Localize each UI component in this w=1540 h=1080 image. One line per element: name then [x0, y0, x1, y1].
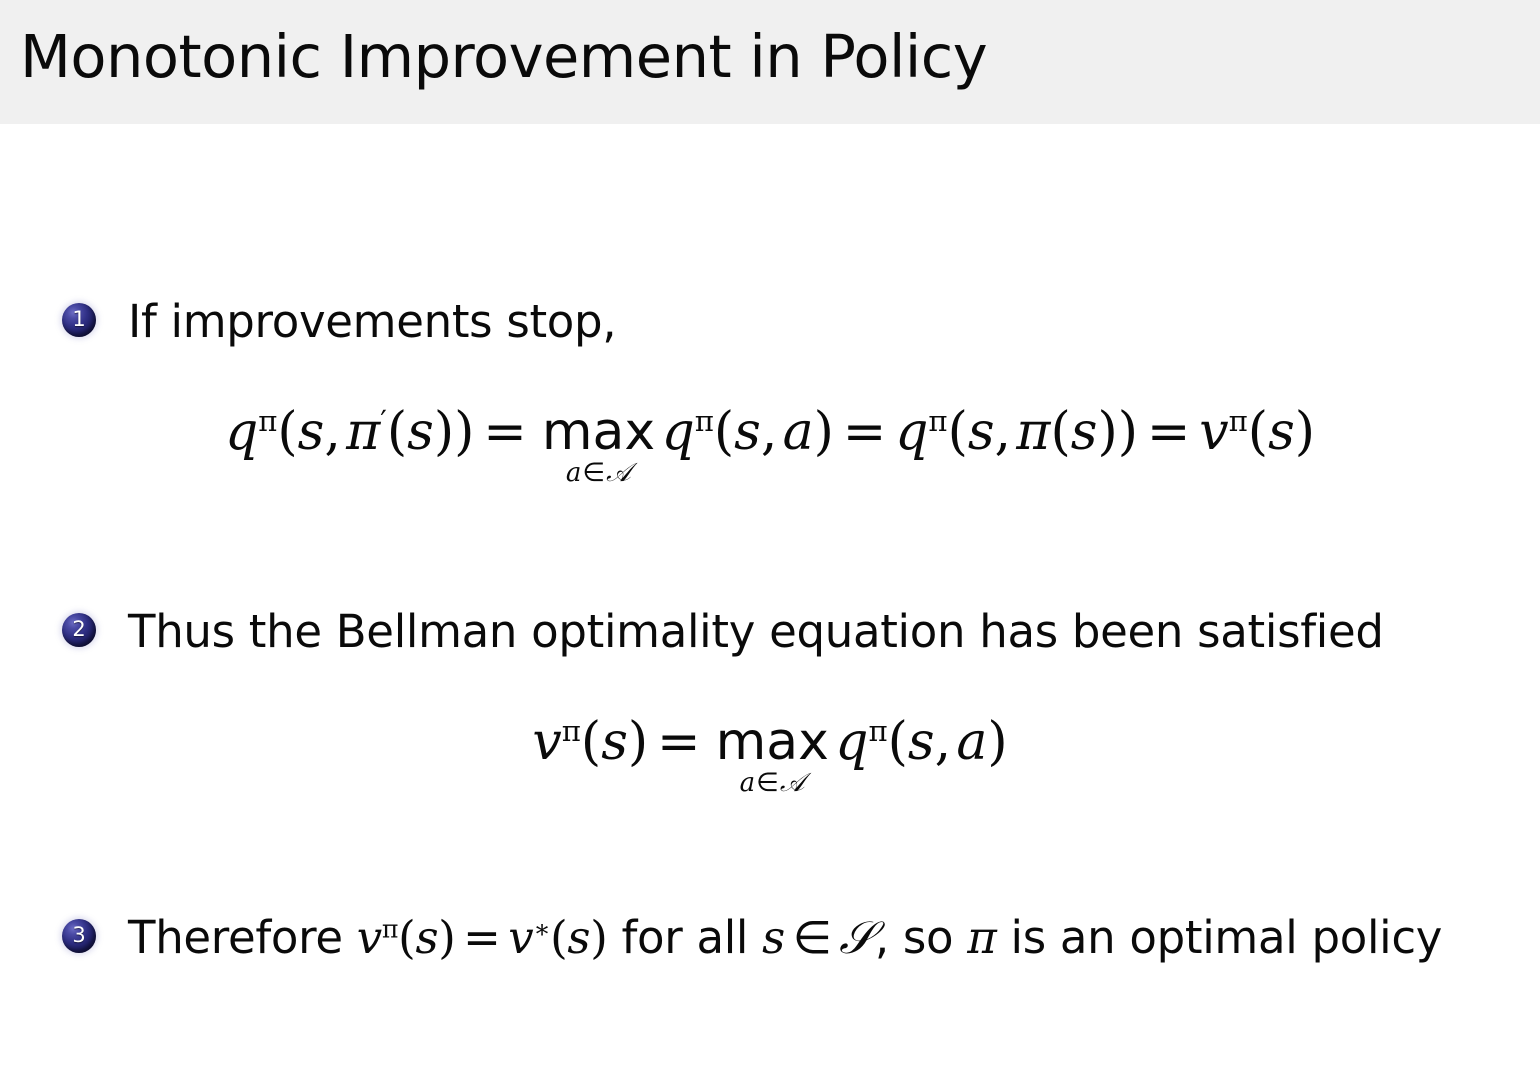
- list-item-2-text: Thus the Bellman optimality equation has…: [128, 605, 1384, 658]
- list-item-1: 1 If improvements stop,: [0, 298, 1540, 347]
- slide-title: Monotonic Improvement in Policy: [20, 26, 987, 88]
- equation-2: vπ(s)=maxa∈𝒜qπ(s, a): [0, 716, 1540, 796]
- equation-1: qπ(s, π′(s))=maxa∈𝒜qπ(s, a)=qπ(s, π(s))=…: [0, 406, 1540, 486]
- enum-row-2: 2 Thus the Bellman optimality equation h…: [0, 608, 1540, 657]
- enum-row-3: 3 Therefore vπ(s)=v∗(s) for all s∈𝒮, so …: [0, 914, 1540, 963]
- math-q-pi-4: qπ: [835, 712, 887, 772]
- badge-number: 2: [72, 619, 85, 640]
- list-item-3-after: , so: [875, 911, 967, 964]
- math-s-var: s: [762, 911, 785, 964]
- math-v-pi-3: vπ: [357, 911, 398, 964]
- enumerate-badge-2: 2: [62, 613, 96, 647]
- badge-number: 3: [72, 925, 85, 946]
- element-of-sign: ∈: [785, 911, 839, 964]
- equation-2-content: vπ(s)=maxa∈𝒜qπ(s, a): [532, 712, 1007, 772]
- list-item-2: 2 Thus the Bellman optimality equation h…: [0, 608, 1540, 657]
- list-item-3-end: is an optimal policy: [997, 911, 1443, 964]
- max-operator-2: maxa∈𝒜: [716, 716, 829, 796]
- math-v-pi-2: vπ: [532, 712, 581, 772]
- math-pi-symbol: π: [967, 911, 996, 964]
- math-v-star: v∗: [508, 911, 550, 964]
- list-item-3-text: Therefore vπ(s)=v∗(s) for all s∈𝒮, so π …: [128, 911, 1442, 964]
- enumerate-badge-3: 3: [62, 919, 96, 953]
- badge-number: 1: [72, 309, 85, 330]
- list-item-3-middle: for all: [607, 911, 762, 964]
- max-operator-1: maxa∈𝒜: [542, 406, 655, 486]
- enumerate-badge-1: 1: [62, 303, 96, 337]
- list-item-1-text: If improvements stop,: [128, 295, 616, 348]
- list-item-3-before: Therefore: [128, 911, 357, 964]
- equals-sign: =: [474, 402, 535, 462]
- slide-body: 1 If improvements stop, qπ(s, π′(s))=max…: [0, 124, 1540, 1080]
- math-q-pi-2: qπ: [661, 402, 713, 462]
- slide-header-bar: Monotonic Improvement in Policy: [0, 0, 1540, 124]
- equation-1-content: qπ(s, π′(s))=maxa∈𝒜qπ(s, a)=qπ(s, π(s))=…: [225, 402, 1315, 462]
- math-cal-S: 𝒮: [839, 911, 875, 964]
- math-pi-prime: π′: [346, 402, 387, 462]
- math-q-pi-1: qπ: [225, 402, 277, 462]
- list-item-3: 3 Therefore vπ(s)=v∗(s) for all s∈𝒮, so …: [0, 914, 1540, 963]
- math-v-pi-1: vπ: [1199, 402, 1248, 462]
- math-q-pi-3: qπ: [895, 402, 947, 462]
- enum-row-1: 1 If improvements stop,: [0, 298, 1540, 347]
